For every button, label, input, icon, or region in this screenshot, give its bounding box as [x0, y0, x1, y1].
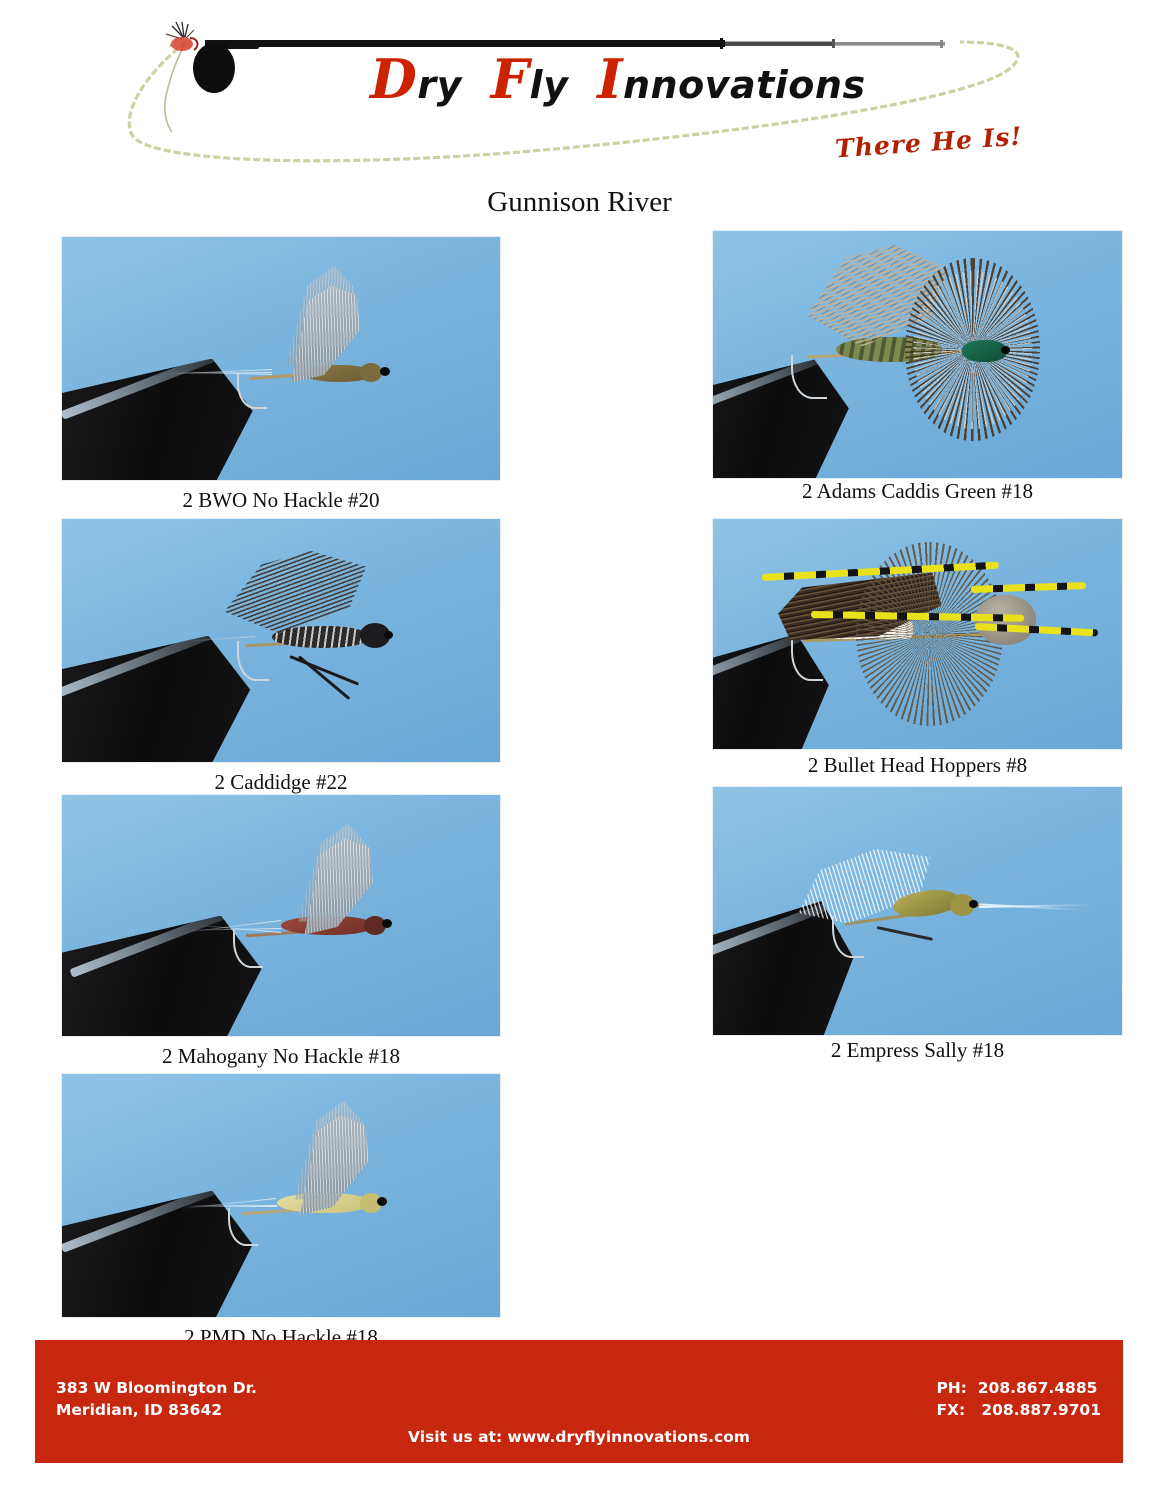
fly-card-caddidge[interactable]: 2 Caddidge #22 — [61, 518, 501, 763]
fly-caption: 2 Caddidge #22 — [61, 770, 501, 795]
fly-photo-bullet-head-hoppers — [712, 518, 1123, 750]
fly-photo-adams-caddis-green — [712, 230, 1123, 479]
address-line-1: 383 W Bloomington Dr. — [56, 1377, 257, 1399]
fly-card-adams-caddis-green[interactable]: 2 Adams Caddis Green #18 — [712, 230, 1123, 479]
fly-card-mahogany-no-hackle[interactable]: 2 Mahogany No Hackle #18 — [61, 794, 501, 1037]
footer-website[interactable]: Visit us at: www.dryflyinnovations.com — [35, 1428, 1123, 1446]
fly-card-bwo-no-hackle[interactable]: 2 BWO No Hackle #20 — [61, 236, 501, 481]
fly-photo-empress-sally — [712, 786, 1123, 1036]
page-title: Gunnison River — [0, 186, 1159, 219]
fly-card-bullet-head-hoppers[interactable]: 2 Bullet Head Hoppers #8 — [712, 518, 1123, 750]
fly-photo-bwo-no-hackle — [61, 236, 501, 481]
fly-card-empress-sally[interactable]: 2 Empress Sally #18 — [712, 786, 1123, 1036]
fly-photo-pmd-no-hackle — [61, 1073, 501, 1318]
header-logo-area: Dry Fly Innovations There He Is! — [0, 0, 1159, 185]
brand-initial-i: I — [597, 47, 623, 111]
fly-photo-caddidge — [61, 518, 501, 763]
address-line-2: Meridian, ID 83642 — [56, 1399, 257, 1421]
brand-initial-f: F — [491, 47, 530, 111]
brand-text-ly: ly — [530, 63, 569, 107]
brand-wordmark: Dry Fly Innovations — [370, 62, 866, 108]
catalog-page: Dry Fly Innovations There He Is! Gunniso… — [0, 0, 1159, 1500]
fly-card-pmd-no-hackle[interactable]: 2 PMD No Hackle #18 — [61, 1073, 501, 1318]
brand-text-ry: ry — [417, 63, 462, 107]
footer-address: 383 W Bloomington Dr. Meridian, ID 83642 — [56, 1377, 257, 1421]
fly-caption: 2 Empress Sally #18 — [712, 1038, 1123, 1063]
brand-initial-d: D — [370, 47, 417, 111]
brand-text-nnovations: nnovations — [623, 63, 866, 107]
fly-photo-mahogany-no-hackle — [61, 794, 501, 1037]
fly-caption: 2 BWO No Hackle #20 — [61, 488, 501, 513]
footer-contact-bar: 383 W Bloomington Dr. Meridian, ID 83642… — [35, 1340, 1123, 1463]
fly-caption: 2 Bullet Head Hoppers #8 — [712, 753, 1123, 778]
fly-caption: 2 Mahogany No Hackle #18 — [61, 1044, 501, 1069]
fly-caption: 2 Adams Caddis Green #18 — [712, 479, 1123, 504]
footer-phone-block: PH: 208.867.4885 FX: 208.887.9701 — [936, 1377, 1101, 1421]
